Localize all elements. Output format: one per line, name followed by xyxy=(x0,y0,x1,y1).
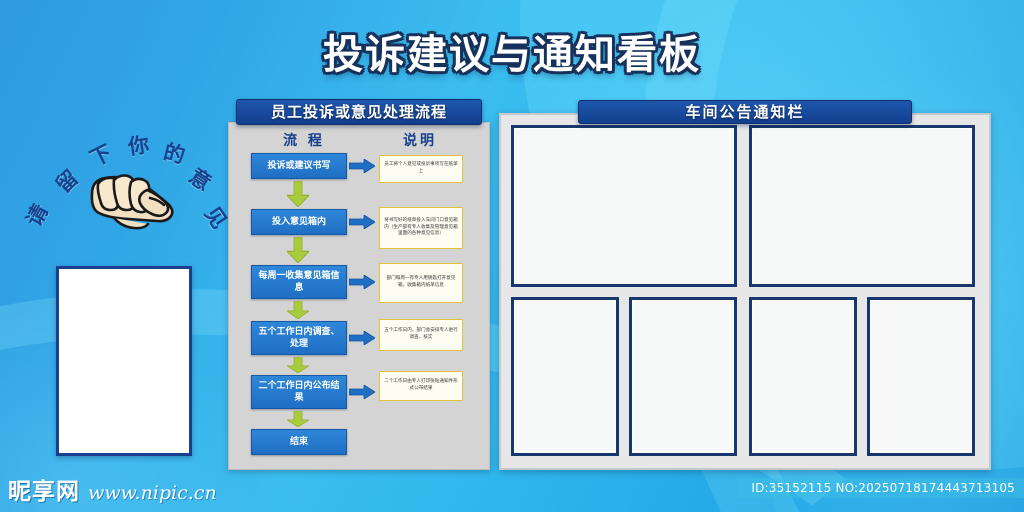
flow-desc-5: 二个工作日由专人打印张贴通知件形式公布结果 xyxy=(379,371,463,401)
notice-panel-small-4[interactable] xyxy=(867,297,975,456)
flow-step-6: 结束 xyxy=(251,429,347,455)
notice-panel-large-2[interactable] xyxy=(749,125,975,287)
flow-step-3: 每周一收集意见箱信息 xyxy=(251,265,347,299)
page-title: 投诉建议与通知看板 xyxy=(0,22,1024,80)
watermark-logo: 昵享网 xyxy=(8,472,80,506)
board-header: 车间公告通知栏 xyxy=(578,100,912,124)
arrow-right-icon-2 xyxy=(349,215,375,229)
arrow-down-icon-2 xyxy=(287,237,309,263)
flow-panel: 投诉或建议书写员工将个人意见或投诉事项写在纸单上投入意见箱内将书写好的纸单投入车… xyxy=(228,122,490,470)
flow-step-2: 投入意见箱内 xyxy=(251,209,347,235)
column-header-desc: 说明 xyxy=(374,130,466,150)
left-blank-poster[interactable] xyxy=(56,266,192,456)
flow-step-5: 二个工作日内公布结果 xyxy=(251,375,347,409)
arrow-down-icon-5 xyxy=(287,411,309,427)
flow-step-4: 五个工作日内调查、处理 xyxy=(251,321,347,355)
flow-panel-header: 员工投诉或意见处理流程 xyxy=(236,99,482,125)
notice-panel-small-3[interactable] xyxy=(749,297,857,456)
slogan-char-3: 你 xyxy=(126,129,151,162)
slogan-char-0: 请 xyxy=(18,199,54,232)
column-header-flow: 流 程 xyxy=(256,130,352,150)
flow-desc-3: 部门每周一有专人用钥匙打开意见箱，收集箱内纸单信息 xyxy=(379,263,463,303)
bulletin-board-grid xyxy=(511,125,979,458)
arrow-right-icon-5 xyxy=(349,385,375,399)
slogan-char-5: 意 xyxy=(183,161,217,198)
bulletin-board xyxy=(499,113,991,470)
notice-panel-small-1[interactable] xyxy=(511,297,619,456)
arrow-down-icon-3 xyxy=(287,301,309,319)
watermark-url: www.nipic.cn xyxy=(88,482,217,504)
notice-panel-large-1[interactable] xyxy=(511,125,737,287)
kanban-poster: 投诉建议与通知看板 请 留 下 你 的 意 见 员工投诉或意见处理流程 投诉或建… xyxy=(0,0,1024,512)
arrow-down-icon-4 xyxy=(287,357,309,373)
flow-desc-4: 五个工作日内，部门会安排专人进行调查、核实 xyxy=(379,319,463,351)
arrow-down-icon-1 xyxy=(287,181,309,207)
arrow-right-icon-3 xyxy=(349,275,375,289)
flow-desc-1: 员工将个人意见或投诉事项写在纸单上 xyxy=(379,155,463,183)
pointing-hand-icon xyxy=(74,158,184,232)
notice-panel-small-2[interactable] xyxy=(629,297,737,456)
arrow-right-icon-1 xyxy=(349,159,375,173)
flow-step-1: 投诉或建议书写 xyxy=(251,153,347,179)
watermark: 昵享网 www.nipic.cn xyxy=(8,472,217,506)
flow-desc-2: 将书写好的纸单投入车间门口意见箱内（生产部有专人收集及管理意见箱里面的各种意见信… xyxy=(379,207,463,249)
arrow-right-icon-4 xyxy=(349,331,375,345)
footer-id-label: ID:35152115 NO:20250718174443713105 xyxy=(737,478,1024,498)
